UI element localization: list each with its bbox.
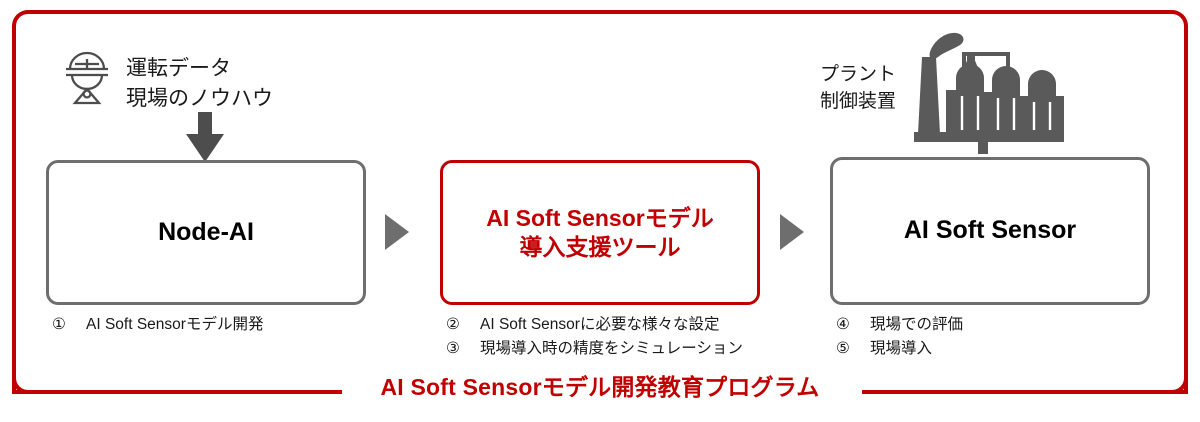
caption-number: ② (446, 313, 480, 337)
stage-box-ai-soft-sensor[interactable]: AI Soft Sensor (830, 157, 1150, 305)
caption-text: 現場導入時の精度をシミュレーション (480, 337, 743, 361)
stage-label-line-2: 導入支援ツール (486, 233, 713, 262)
caption-item: ③ 現場導入時の精度をシミュレーション (446, 337, 743, 361)
down-arrow-head (186, 134, 224, 162)
caption-item: ⑤ 現場導入 (836, 337, 963, 361)
stage-box-deployment-support-tool[interactable]: AI Soft Sensorモデル 導入支援ツール (440, 160, 760, 305)
plant-line-1: プラント (820, 62, 896, 89)
plant-label: プラント 制御装置 (820, 62, 896, 116)
diagram-canvas: 運転データ 現場のノウハウ (0, 0, 1200, 422)
stage-box-node-ai[interactable]: Node-AI (46, 160, 366, 305)
stage-label-deployment-support-tool: AI Soft Sensorモデル 導入支援ツール (486, 204, 713, 262)
caption-number: ④ (836, 313, 870, 337)
down-arrow-icon (186, 112, 224, 162)
caption-group-node-ai: ① AI Soft Sensorモデル開発 (52, 313, 263, 337)
stage-label-ai-soft-sensor: AI Soft Sensor (904, 215, 1076, 246)
caption-item: ② AI Soft Sensorに必要な様々な設定 (446, 313, 743, 337)
caption-number: ① (52, 313, 86, 337)
caption-text: 現場導入 (870, 337, 932, 361)
industrial-plant-icon (900, 22, 1070, 154)
down-arrow-shaft (198, 112, 212, 136)
caption-text: AI Soft Sensorに必要な様々な設定 (480, 313, 719, 337)
caption-number: ③ (446, 337, 480, 361)
input-line-2: 現場のノウハウ (126, 84, 273, 114)
caption-text: 現場での評価 (870, 313, 963, 337)
stage-label-node-ai: Node-AI (158, 217, 254, 248)
programme-title: AI Soft Sensorモデル開発教育プログラム (0, 376, 1200, 399)
right-arrow-icon-stage2-to-stage3 (780, 214, 804, 250)
stage-label-line-1: AI Soft Sensorモデル (486, 204, 713, 233)
caption-number: ⑤ (836, 337, 870, 361)
caption-item: ④ 現場での評価 (836, 313, 963, 337)
hard-hat-worker-icon (62, 50, 112, 108)
plant-line-2: 制御装置 (820, 89, 896, 116)
caption-item: ① AI Soft Sensorモデル開発 (52, 313, 263, 337)
caption-text: AI Soft Sensorモデル開発 (86, 313, 263, 337)
right-arrow-icon-stage1-to-stage2 (385, 214, 409, 250)
input-knowhow-text: 運転データ 現場のノウハウ (126, 54, 273, 114)
caption-group-ai-soft-sensor: ④ 現場での評価 ⑤ 現場導入 (836, 313, 963, 361)
caption-group-deployment-support-tool: ② AI Soft Sensorに必要な様々な設定 ③ 現場導入時の精度をシミュ… (446, 313, 743, 361)
input-line-1: 運転データ (126, 54, 273, 84)
